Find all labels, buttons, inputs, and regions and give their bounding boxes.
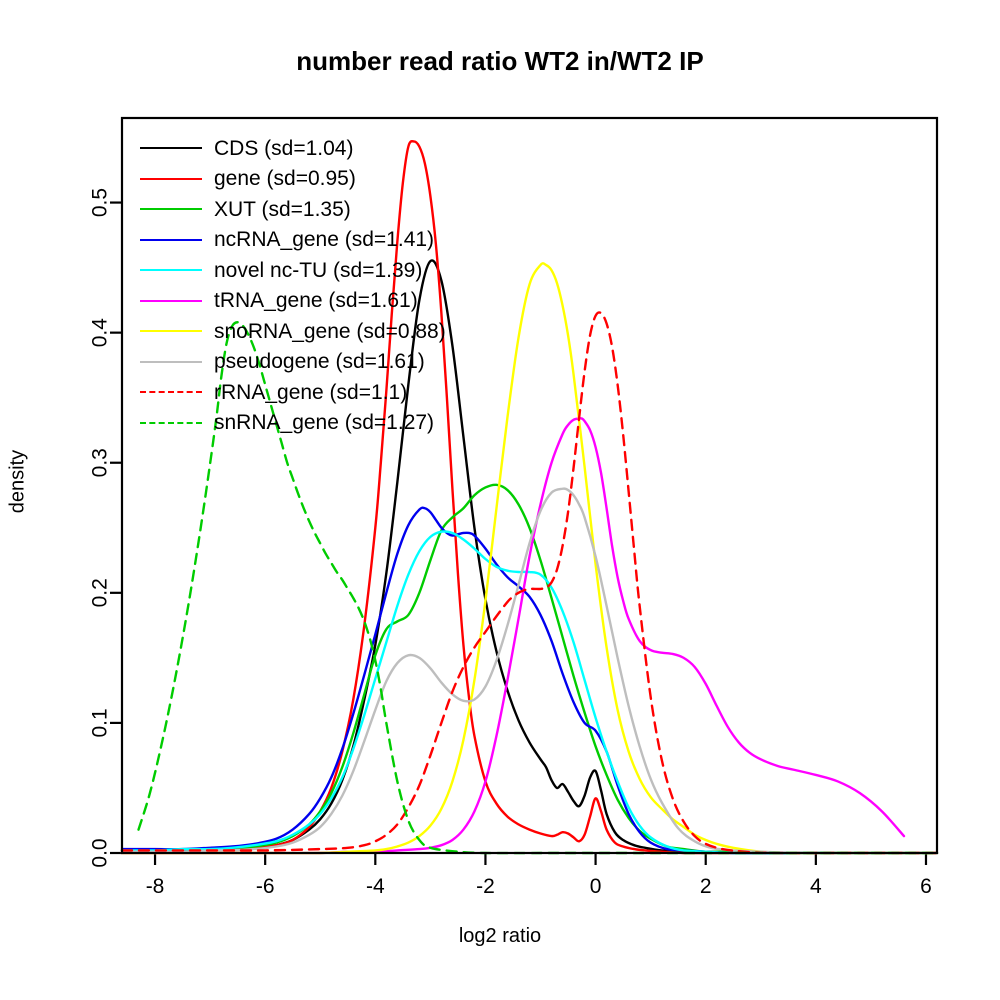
y-tick-label: 0.0 (89, 838, 112, 867)
legend-item-label: snRNA_gene (sd=1.27) (214, 412, 434, 433)
legend-item-label: rRNA_gene (sd=1.1) (214, 382, 407, 403)
legend-item: XUT (sd=1.35) (140, 194, 446, 225)
legend-key-swatch (140, 178, 202, 180)
legend-item-label: pseudogene (sd=1.61) (214, 351, 425, 372)
legend-item-label: CDS (sd=1.04) (214, 138, 353, 159)
legend-key-swatch (140, 208, 202, 210)
x-tick-label: -8 (146, 875, 165, 898)
legend-item-label: tRNA_gene (sd=1.61) (214, 290, 418, 311)
x-tick-label: 0 (590, 875, 602, 898)
legend-item-label: snoRNA_gene (sd=0.88) (214, 321, 446, 342)
legend-item-label: XUT (sd=1.35) (214, 199, 351, 220)
x-tick-label: 6 (920, 875, 932, 898)
series-line (122, 531, 937, 853)
legend-item: ncRNA_gene (sd=1.41) (140, 225, 446, 256)
legend-item-label: gene (sd=0.95) (214, 168, 356, 189)
legend-item: CDS (sd=1.04) (140, 133, 446, 164)
legend-key-swatch (140, 269, 202, 271)
series-line (122, 418, 904, 853)
series-line (122, 489, 937, 853)
legend-key-swatch (140, 300, 202, 302)
legend-item-label: ncRNA_gene (sd=1.41) (214, 229, 434, 250)
y-axis-title: density (7, 392, 30, 572)
legend-item: rRNA_gene (sd=1.1) (140, 377, 446, 408)
y-tick-label: 0.5 (89, 188, 112, 217)
y-tick-label: 0.3 (89, 448, 112, 477)
y-tick-label: 0.2 (89, 578, 112, 607)
legend-key-swatch (140, 330, 202, 332)
x-axis-title: log2 ratio (0, 925, 1000, 948)
x-tick-label: -2 (476, 875, 495, 898)
density-plot-page: number read ratio WT2 in/WT2 IP -8-6-4-2… (0, 0, 1000, 1000)
legend-key-swatch (140, 361, 202, 363)
legend-item: snRNA_gene (sd=1.27) (140, 408, 446, 439)
x-tick-label: 2 (700, 875, 712, 898)
legend-key-swatch (140, 147, 202, 149)
legend-item: snoRNA_gene (sd=0.88) (140, 316, 446, 347)
legend-key-swatch (140, 422, 202, 424)
legend-item: tRNA_gene (sd=1.61) (140, 286, 446, 317)
legend-item: gene (sd=0.95) (140, 164, 446, 195)
legend-key-swatch (140, 239, 202, 241)
y-tick-label: 0.1 (89, 708, 112, 737)
x-tick-label: -6 (256, 875, 275, 898)
legend-item: pseudogene (sd=1.61) (140, 347, 446, 378)
x-tick-label: 4 (810, 875, 822, 898)
y-tick-label: 0.4 (89, 318, 112, 348)
legend-item-label: novel nc-TU (sd=1.39) (214, 260, 422, 281)
legend-item: novel nc-TU (sd=1.39) (140, 255, 446, 286)
x-tick-label: -4 (366, 875, 385, 898)
legend-key-swatch (140, 391, 202, 393)
legend: CDS (sd=1.04)gene (sd=0.95)XUT (sd=1.35)… (140, 133, 446, 438)
